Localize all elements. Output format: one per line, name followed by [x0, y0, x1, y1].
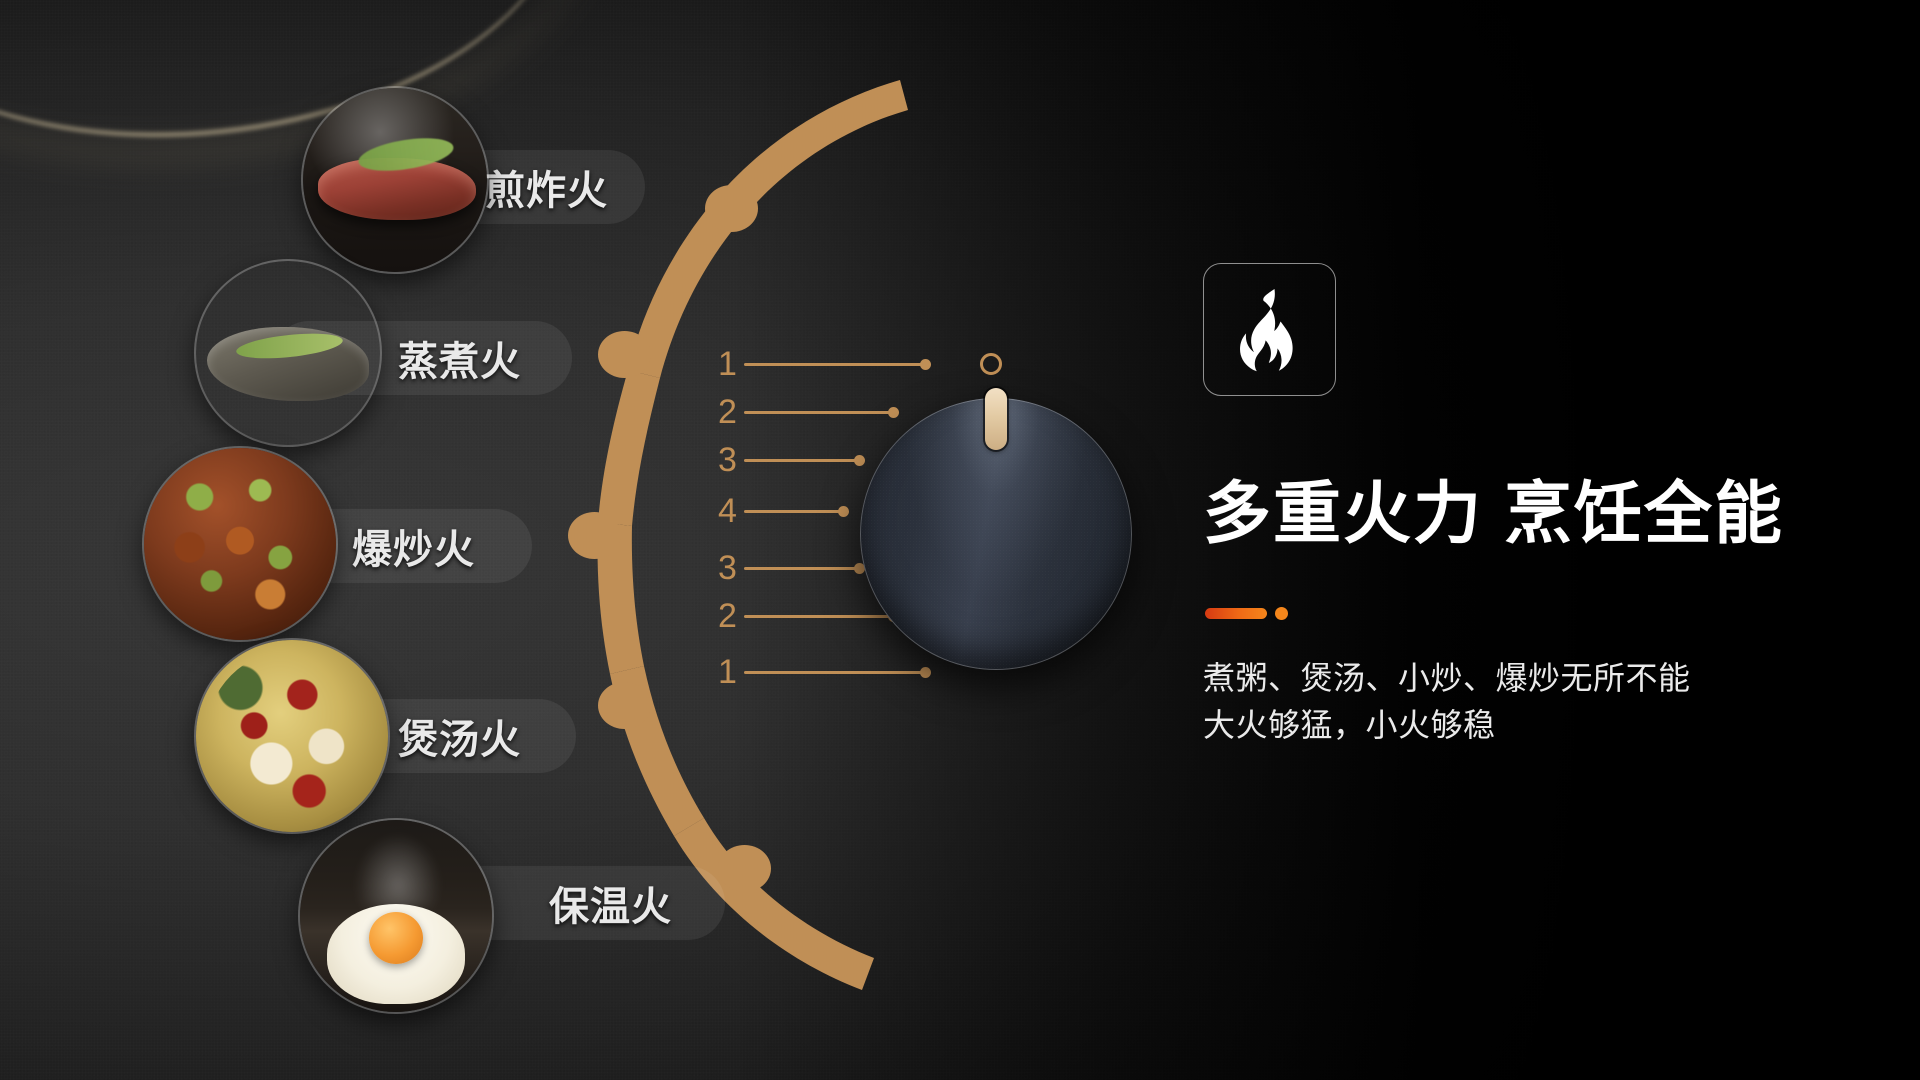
- fish-photo: [196, 261, 380, 445]
- off-ring-icon: [980, 353, 1002, 375]
- scale-endpoint: [838, 506, 849, 517]
- mode-label: 保温火: [549, 874, 672, 932]
- mode-label: 煎炸火: [485, 158, 608, 216]
- scale-line: [744, 411, 890, 414]
- scale-number: 4: [718, 494, 744, 528]
- scale-line: [744, 671, 922, 674]
- mode-label: 爆炒火: [352, 517, 475, 575]
- scale-endpoint: [888, 407, 899, 418]
- flame-badge: [1203, 263, 1336, 396]
- stirfry-photo: [144, 448, 336, 640]
- cooking-mode-list: 煎炸火 蒸煮火 爆炒火 煲汤火: [0, 0, 720, 1080]
- page-title: 多重火力 烹饪全能: [1203, 480, 1784, 548]
- right-panel: 多重火力 烹饪全能 煮粥、煲汤、小炒、爆炒无所不能 大火够猛，小火够稳: [1203, 0, 1920, 1080]
- subtitle-line-2: 大火够猛，小火够稳: [1203, 702, 1691, 749]
- scale-line: [744, 615, 890, 618]
- scale-line: [744, 567, 856, 570]
- knob-pointer: [985, 388, 1007, 450]
- flame-icon: [1233, 287, 1307, 373]
- scale-line: [744, 510, 840, 513]
- steak-photo: [303, 88, 487, 272]
- scale-number: 3: [718, 443, 744, 477]
- scale-number: 2: [718, 395, 744, 429]
- subtitle-line-1: 煮粥、煲汤、小炒、爆炒无所不能: [1203, 655, 1691, 702]
- accent-divider: [1205, 607, 1288, 620]
- scale-number: 3: [718, 551, 744, 585]
- scale-mark: 1: [718, 660, 931, 684]
- scale-mark: 4: [718, 499, 849, 523]
- mode-label: 蒸煮火: [398, 329, 521, 387]
- control-knob[interactable]: [860, 398, 1132, 670]
- soup-photo: [196, 640, 388, 832]
- accent-bar: [1205, 608, 1267, 619]
- egg-photo: [300, 820, 492, 1012]
- scale-mark: 3: [718, 448, 865, 472]
- scale-mark: 2: [718, 604, 899, 628]
- scale-mark: 3: [718, 556, 865, 580]
- scale-mark: 2: [718, 400, 899, 424]
- scale-endpoint: [920, 667, 931, 678]
- accent-dot: [1275, 607, 1288, 620]
- scale-mark: 1: [718, 352, 931, 376]
- scale-endpoint: [920, 359, 931, 370]
- scale-line: [744, 459, 856, 462]
- arc-dot-5: [718, 845, 771, 892]
- scale-number: 1: [718, 655, 744, 689]
- subtitle: 煮粥、煲汤、小炒、爆炒无所不能 大火够猛，小火够稳: [1203, 655, 1691, 750]
- scale-endpoint: [854, 455, 865, 466]
- scale-number: 1: [718, 347, 744, 381]
- scale-number: 2: [718, 599, 744, 633]
- mode-label: 煲汤火: [398, 707, 521, 765]
- scale-line: [744, 363, 922, 366]
- promo-banner: 煎炸火 蒸煮火 爆炒火 煲汤火: [0, 0, 1920, 1080]
